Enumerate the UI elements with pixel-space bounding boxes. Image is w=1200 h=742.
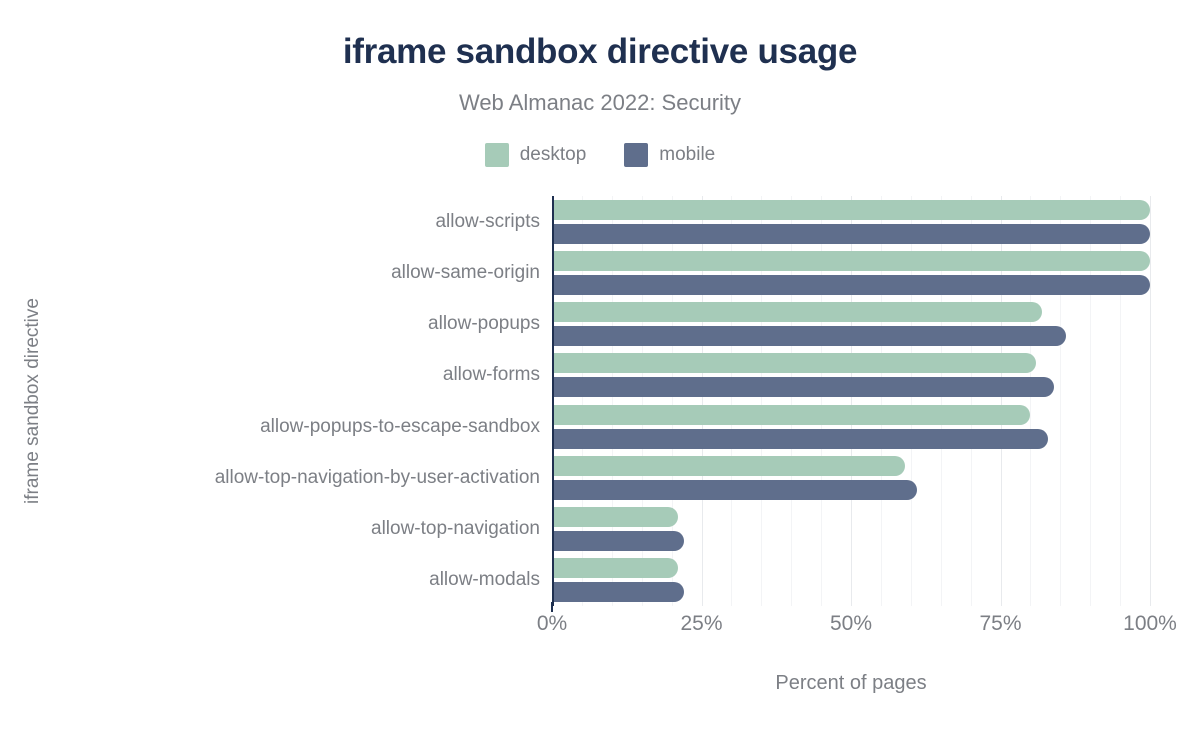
- chart-legend: desktop mobile: [0, 143, 1200, 167]
- x-tick-label-0%: 0%: [537, 612, 567, 636]
- x-tick-label-25%: 25%: [680, 612, 722, 636]
- x-tick-mark-origin: [551, 602, 553, 612]
- plot-area: [552, 196, 1150, 606]
- bar-desktop-allow-scripts[interactable]: [552, 200, 1150, 220]
- bar-mobile-allow-top-navigation[interactable]: [552, 531, 684, 551]
- bar-desktop-allow-top-navigation-by-user-activation[interactable]: [552, 456, 905, 476]
- y-tick-label-allow-same-origin: allow-same-origin: [0, 262, 540, 284]
- legend-swatch-desktop: [485, 143, 509, 167]
- bar-desktop-allow-popups-to-escape-sandbox[interactable]: [552, 405, 1030, 425]
- bar-mobile-allow-top-navigation-by-user-activation[interactable]: [552, 480, 917, 500]
- bar-desktop-allow-popups[interactable]: [552, 302, 1042, 322]
- y-tick-label-allow-scripts: allow-scripts: [0, 211, 540, 233]
- y-tick-label-allow-popups: allow-popups: [0, 313, 540, 335]
- x-tick-label-75%: 75%: [979, 612, 1021, 636]
- legend-item-desktop[interactable]: desktop: [485, 143, 587, 167]
- bar-desktop-allow-forms[interactable]: [552, 353, 1036, 373]
- gridline: [1150, 196, 1151, 606]
- bar-mobile-allow-same-origin[interactable]: [552, 275, 1150, 295]
- bar-mobile-allow-popups-to-escape-sandbox[interactable]: [552, 429, 1048, 449]
- bar-desktop-allow-same-origin[interactable]: [552, 251, 1150, 271]
- bar-mobile-allow-modals[interactable]: [552, 582, 684, 602]
- y-axis-title-text: iframe sandbox directive: [22, 298, 44, 504]
- y-tick-label-allow-top-navigation-by-user-activation: allow-top-navigation-by-user-activation: [0, 467, 540, 489]
- legend-label-desktop: desktop: [520, 144, 587, 166]
- x-axis-title: Percent of pages: [552, 672, 1150, 695]
- chart-figure: iframe sandbox directive usage Web Alman…: [0, 0, 1200, 742]
- chart-title: iframe sandbox directive usage: [0, 32, 1200, 72]
- legend-item-mobile[interactable]: mobile: [624, 143, 715, 167]
- chart-subtitle: Web Almanac 2022: Security: [0, 90, 1200, 116]
- bar-mobile-allow-forms[interactable]: [552, 377, 1054, 397]
- y-tick-label-allow-popups-to-escape-sandbox: allow-popups-to-escape-sandbox: [0, 416, 540, 438]
- y-tick-label-allow-top-navigation: allow-top-navigation: [0, 518, 540, 540]
- x-axis-tick-labels: 0%25%50%75%100%: [552, 612, 1150, 652]
- bar-mobile-allow-popups[interactable]: [552, 326, 1066, 346]
- x-tick-label-100%: 100%: [1123, 612, 1177, 636]
- bar-desktop-allow-modals[interactable]: [552, 558, 678, 578]
- legend-swatch-mobile: [624, 143, 648, 167]
- y-axis-line: [552, 196, 554, 606]
- y-axis-tick-labels: allow-scriptsallow-same-originallow-popu…: [0, 196, 540, 606]
- bar-desktop-allow-top-navigation[interactable]: [552, 507, 678, 527]
- x-tick-label-50%: 50%: [830, 612, 872, 636]
- y-tick-label-allow-forms: allow-forms: [0, 364, 540, 386]
- legend-label-mobile: mobile: [659, 144, 715, 166]
- y-tick-label-allow-modals: allow-modals: [0, 569, 540, 591]
- y-axis-title: iframe sandbox directive: [18, 196, 48, 606]
- bar-mobile-allow-scripts[interactable]: [552, 224, 1150, 244]
